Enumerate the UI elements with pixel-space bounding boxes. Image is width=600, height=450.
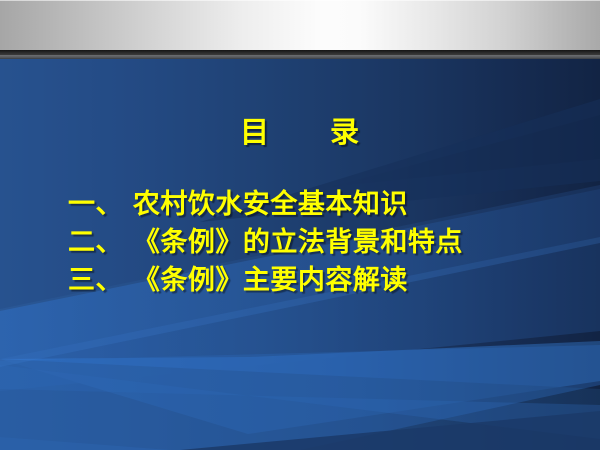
slide-header-bar <box>0 0 600 50</box>
page-title: 目 录 <box>0 116 600 149</box>
presentation-slide: 目 录 一、 农村饮水安全基本知识 二、 《条例》的立法背景和特点 三、 《条例… <box>0 0 600 450</box>
header-bar-highlight-line <box>0 0 600 1</box>
toc-item-1[interactable]: 一、 农村饮水安全基本知识 <box>68 186 568 224</box>
table-of-contents-list: 一、 农村饮水安全基本知识 二、 《条例》的立法背景和特点 三、 《条例》主要内… <box>68 186 568 300</box>
toc-item-3[interactable]: 三、 《条例》主要内容解读 <box>68 262 568 300</box>
toc-item-2[interactable]: 二、 《条例》的立法背景和特点 <box>68 224 568 262</box>
